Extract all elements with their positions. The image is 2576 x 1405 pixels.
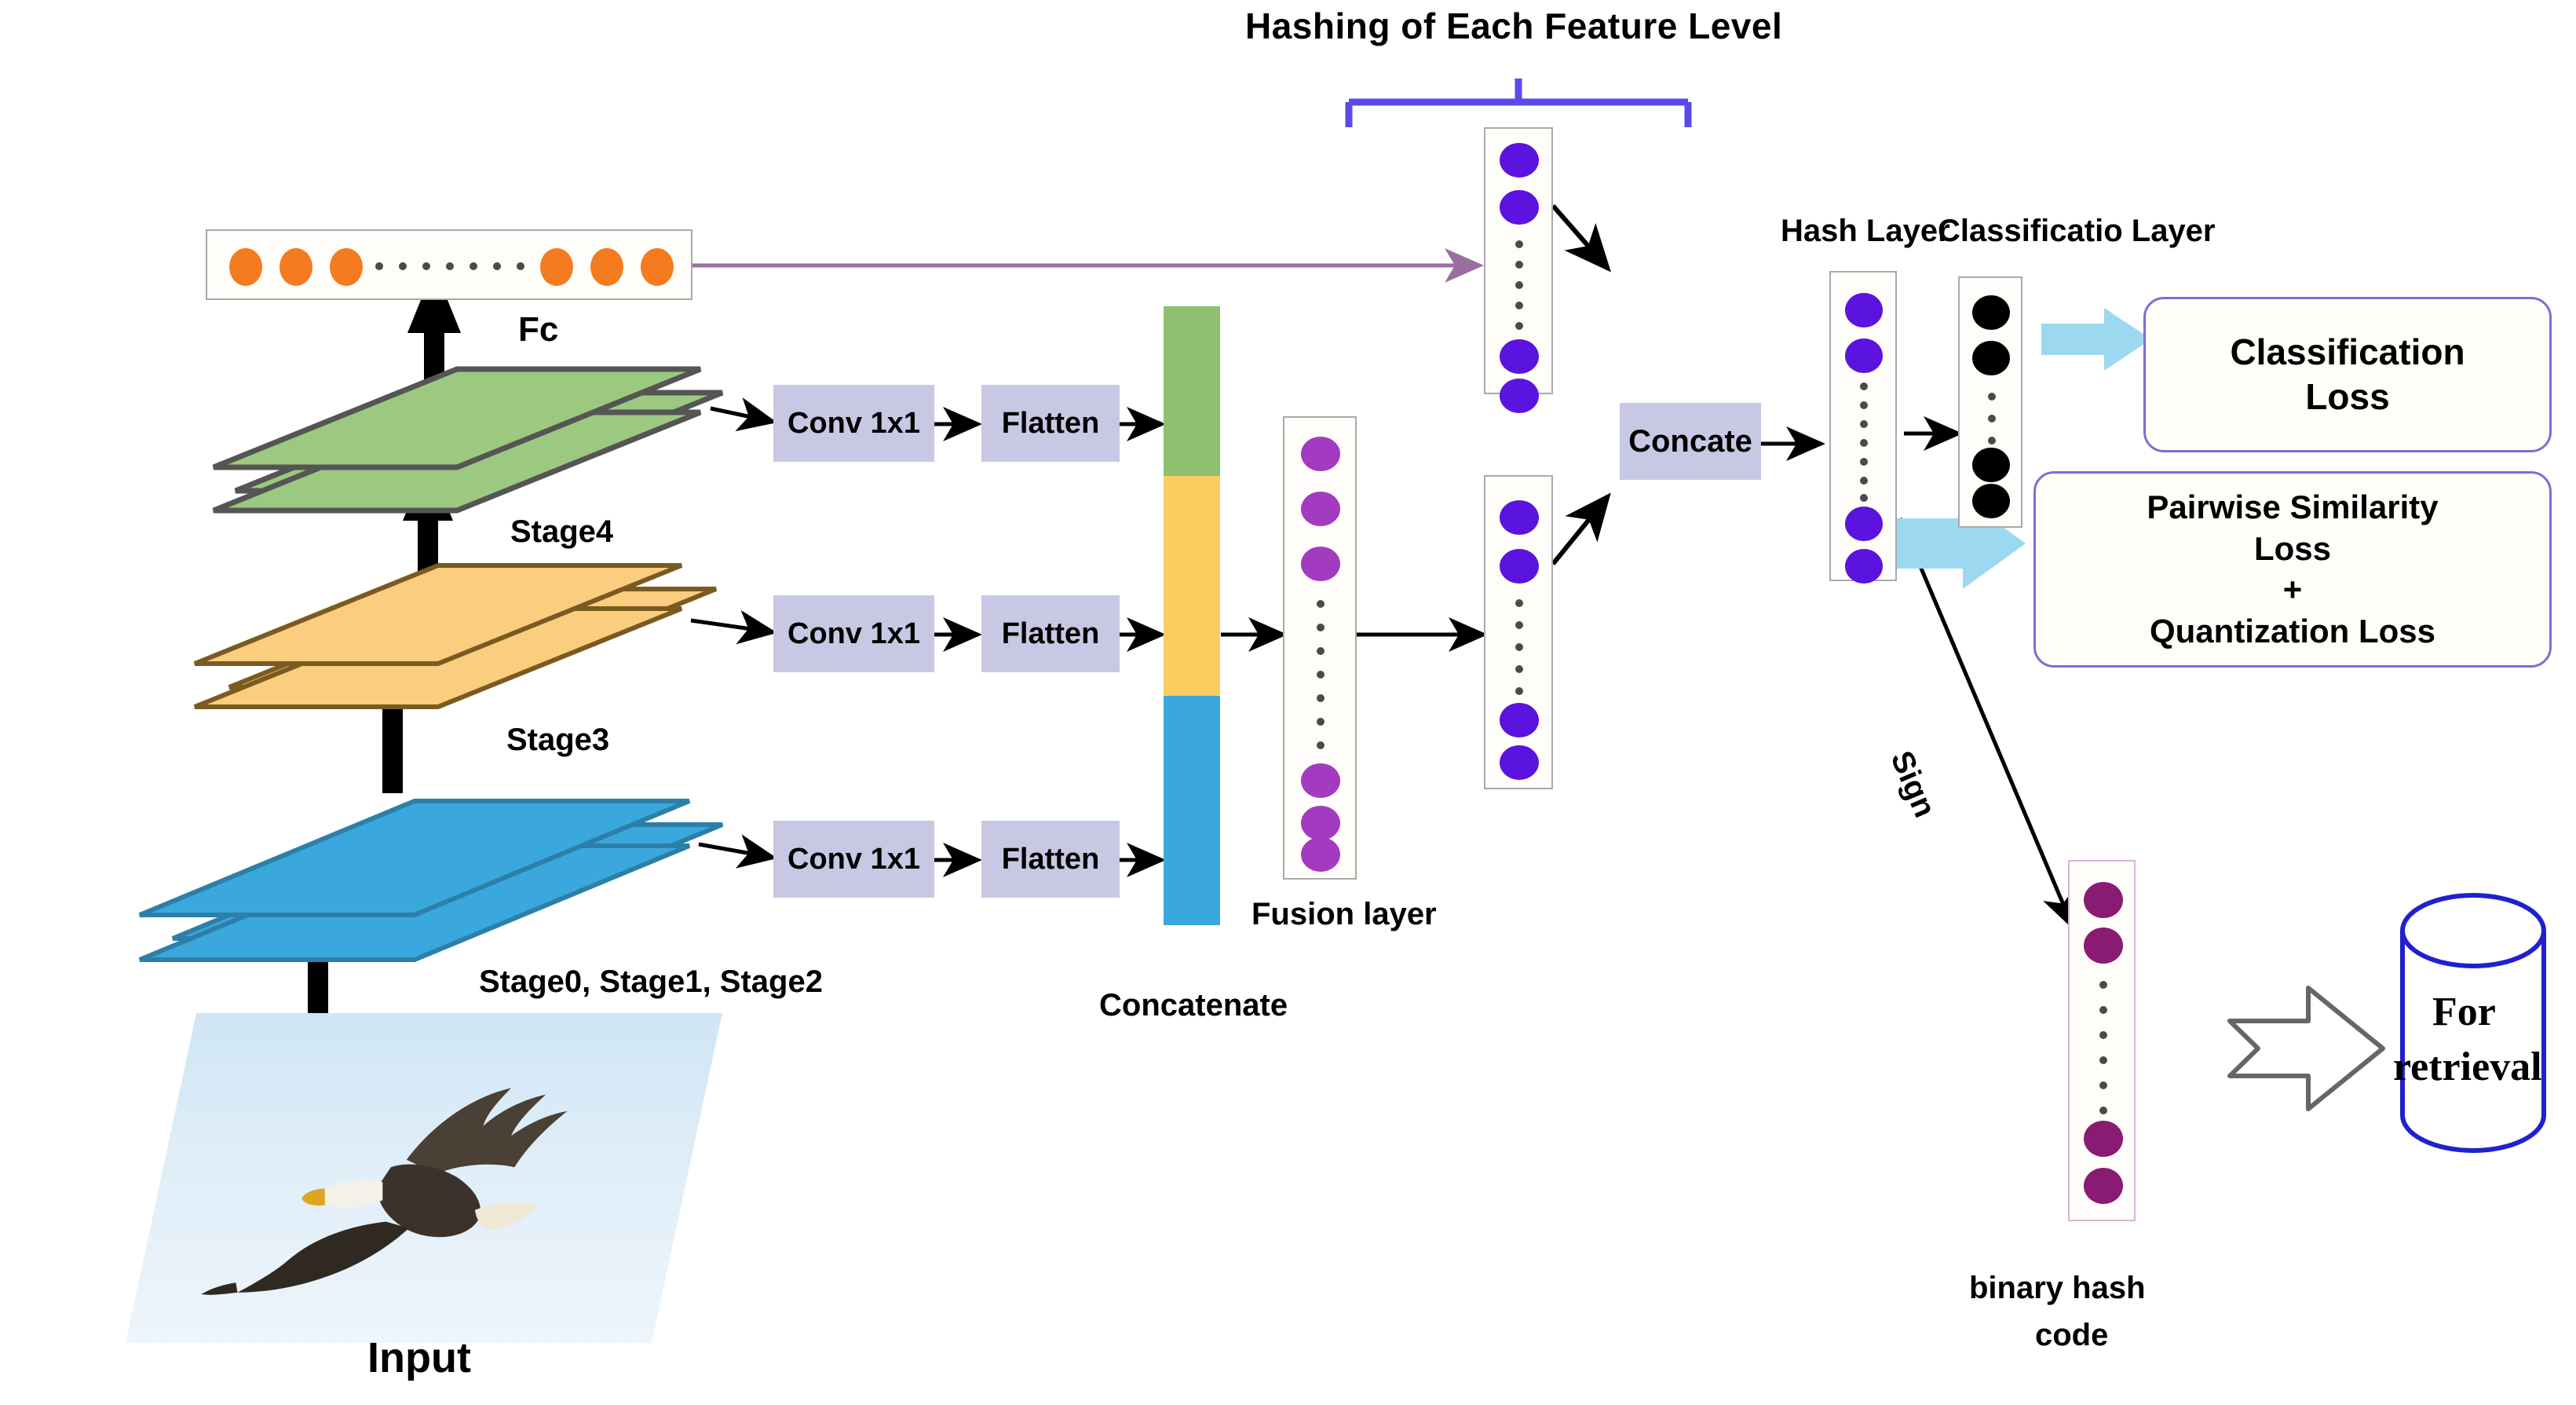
binary-hash-dot (2084, 1168, 2123, 1204)
arrow-stage3-to-stage4 (403, 459, 453, 613)
hash-level1-ellipsis-dot (1515, 261, 1523, 269)
flatten-box-stage4[interactable]: Flatten (981, 385, 1120, 462)
flatten-box-stage3[interactable]: Flatten (981, 595, 1120, 672)
arrow-stage3-to-conv (691, 620, 773, 632)
conv-box-stage012[interactable]: Conv 1x1 (773, 821, 934, 898)
fusion-layer-vector (1283, 416, 1357, 880)
hash-level2-dot (1500, 745, 1539, 780)
fc-ellipsis-dot (422, 262, 430, 270)
hash-level1-dot (1500, 379, 1539, 413)
hash-level1-ellipsis-dot (1515, 281, 1523, 289)
fc-dot (641, 248, 674, 286)
concat-segment-stage4 (1164, 306, 1220, 476)
concat-segment-stage3 (1164, 476, 1220, 696)
plane-stage4 (214, 369, 722, 510)
classification-loss-line-1: Classification (2230, 330, 2465, 375)
fc-ellipsis-dot (446, 262, 454, 270)
fusion-ellipsis-dot (1317, 718, 1325, 726)
classification-dot (1972, 448, 2010, 482)
classification-dot (1972, 341, 2010, 375)
hash-level2-dot (1500, 500, 1539, 535)
stage012-label: Stage0, Stage1, Stage2 (479, 964, 823, 999)
hash-layer-ellipsis-dot (1860, 477, 1868, 485)
concat-segment-stage012 (1164, 696, 1220, 925)
sign-label: Sign (1884, 746, 1942, 822)
fusion-ellipsis-dot (1317, 600, 1325, 608)
conv-box-stage3[interactable]: Conv 1x1 (773, 595, 934, 672)
hashing-bracket (1349, 79, 1688, 127)
fusion-ellipsis-dot (1317, 741, 1325, 749)
stage4-label: Stage4 (510, 514, 613, 549)
arrow-stage4-to-conv (711, 408, 773, 422)
fc-dot (590, 248, 623, 286)
binary-hash-code-label-line2: code (2035, 1318, 2108, 1352)
input-label: Input (367, 1335, 471, 1381)
hash-level2-dot (1500, 549, 1539, 584)
hash-layer-dot (1845, 338, 1883, 373)
hash-level2-ellipsis-dot (1515, 665, 1523, 673)
fusion-dot (1301, 837, 1340, 872)
fc-dot (330, 248, 363, 286)
hash-layer-ellipsis-dot (1860, 382, 1868, 390)
fc-dot (229, 248, 262, 286)
binary-hash-dot (2084, 1121, 2123, 1157)
classification-loss-box[interactable]: Classification Loss (2143, 297, 2552, 452)
fc-dot (280, 248, 312, 286)
binary-hash-dot (2084, 882, 2123, 918)
fusion-dot (1301, 806, 1340, 840)
fc-ellipsis-dot (399, 262, 407, 270)
fusion-layer-label: Fusion layer (1251, 897, 1437, 931)
hash-level1-dot (1500, 190, 1539, 225)
classification-ellipsis-dot (1988, 415, 1996, 423)
fusion-dot (1301, 437, 1340, 471)
hash-level1-ellipsis-dot (1515, 240, 1523, 248)
hash-layer-dot (1845, 507, 1883, 541)
concatenate-label: Concatenate (1099, 988, 1288, 1023)
binary-hash-ellipsis-dot (2099, 1107, 2107, 1114)
conv-box-stage4[interactable]: Conv 1x1 (773, 385, 934, 462)
classification-ellipsis-dot (1988, 393, 1996, 401)
hash-level2-ellipsis-dot (1515, 621, 1523, 629)
arrow-hash1-to-concate (1553, 206, 1608, 269)
classification-dot (1972, 484, 2010, 518)
hash-level1-dot (1500, 143, 1539, 177)
hash-level2-dot (1500, 703, 1539, 737)
classification-dot (1972, 295, 2010, 330)
fc-ellipsis-dot (470, 262, 477, 270)
hash-level2-ellipsis-dot (1515, 643, 1523, 651)
pairwise-loss-line-2: Loss (2254, 529, 2331, 570)
retrieval-label-line2: retrieval (2393, 1045, 2542, 1089)
fusion-dot (1301, 547, 1340, 581)
fc-dot (540, 248, 573, 286)
fc-ellipsis-dot (517, 262, 524, 270)
binary-hash-code-label-line1: binary hash (1969, 1271, 2146, 1305)
stage3-label: Stage3 (506, 723, 609, 757)
hash-layer-ellipsis-dot (1860, 458, 1868, 466)
hash-level1-ellipsis-dot (1515, 302, 1523, 309)
hash-level-vector-2 (1484, 475, 1553, 789)
hash-layer-ellipsis-dot (1860, 420, 1868, 428)
hash-level1-dot (1500, 339, 1539, 374)
fusion-ellipsis-dot (1317, 694, 1325, 702)
pairwise-loss-line-1: Pairwise Similarity (2147, 487, 2438, 529)
classification-layer-label: Classificatio Layer (1938, 214, 2216, 248)
hash-level1-ellipsis-dot (1515, 322, 1523, 330)
hash-layer-ellipsis-dot (1860, 439, 1868, 447)
plane-stage3 (195, 565, 716, 707)
binary-hash-dot (2084, 928, 2123, 964)
hash-layer-dot (1845, 293, 1883, 327)
concate-box[interactable]: Concate (1620, 403, 1761, 480)
binary-hash-ellipsis-dot (2099, 981, 2107, 989)
page-title: Hashing of Each Feature Level (1245, 6, 1782, 46)
pairwise-loss-line-4: Quantization Loss (2150, 611, 2435, 653)
arrow-stage012-to-stage3 (367, 644, 418, 793)
hollow-arrow-to-retrieval (2230, 988, 2383, 1109)
hash-layer-ellipsis-dot (1860, 401, 1868, 409)
fc-ellipsis-dot (375, 262, 383, 270)
binary-hash-code-vector (2068, 860, 2136, 1221)
fusion-dot (1301, 763, 1340, 798)
fc-label: Fc (518, 311, 558, 349)
architecture-diagram: Hashing of Each Feature Level (0, 0, 2576, 1405)
fusion-ellipsis-dot (1317, 647, 1325, 655)
pairwise-loss-line-3: + (2283, 569, 2303, 611)
fusion-ellipsis-dot (1317, 624, 1325, 631)
binary-hash-ellipsis-dot (2099, 1081, 2107, 1089)
arrow-hash2-to-concate (1553, 496, 1608, 564)
classification-ellipsis-dot (1988, 437, 1996, 445)
pairwise-quantization-loss-box[interactable]: Pairwise Similarity Loss + Quantization … (2033, 471, 2552, 668)
hash-level-vector-1 (1484, 127, 1553, 394)
hash-layer-vector (1829, 271, 1897, 581)
input-image (126, 1013, 722, 1343)
hash-level2-ellipsis-dot (1515, 687, 1523, 695)
hash-layer-ellipsis-dot (1860, 494, 1868, 502)
classification-layer-vector (1958, 276, 2022, 528)
flatten-box-stage012[interactable]: Flatten (981, 821, 1120, 898)
binary-hash-ellipsis-dot (2099, 1031, 2107, 1039)
arrow-stage012-to-conv (699, 844, 773, 858)
classification-loss-line-2: Loss (2305, 375, 2389, 420)
plane-stage012 (140, 801, 722, 960)
hash-level2-ellipsis-dot (1515, 599, 1523, 607)
binary-hash-ellipsis-dot (2099, 1006, 2107, 1014)
fusion-ellipsis-dot (1317, 671, 1325, 679)
fc-vector (206, 229, 692, 300)
fc-ellipsis-dot (493, 262, 501, 270)
blue-arrow-to-classification-loss (2041, 308, 2151, 371)
retrieval-label-line1: For (2432, 990, 2496, 1034)
hash-layer-label: Hash Layer (1781, 214, 1950, 248)
binary-hash-ellipsis-dot (2099, 1056, 2107, 1064)
hash-layer-dot (1845, 549, 1883, 584)
fusion-dot (1301, 492, 1340, 526)
